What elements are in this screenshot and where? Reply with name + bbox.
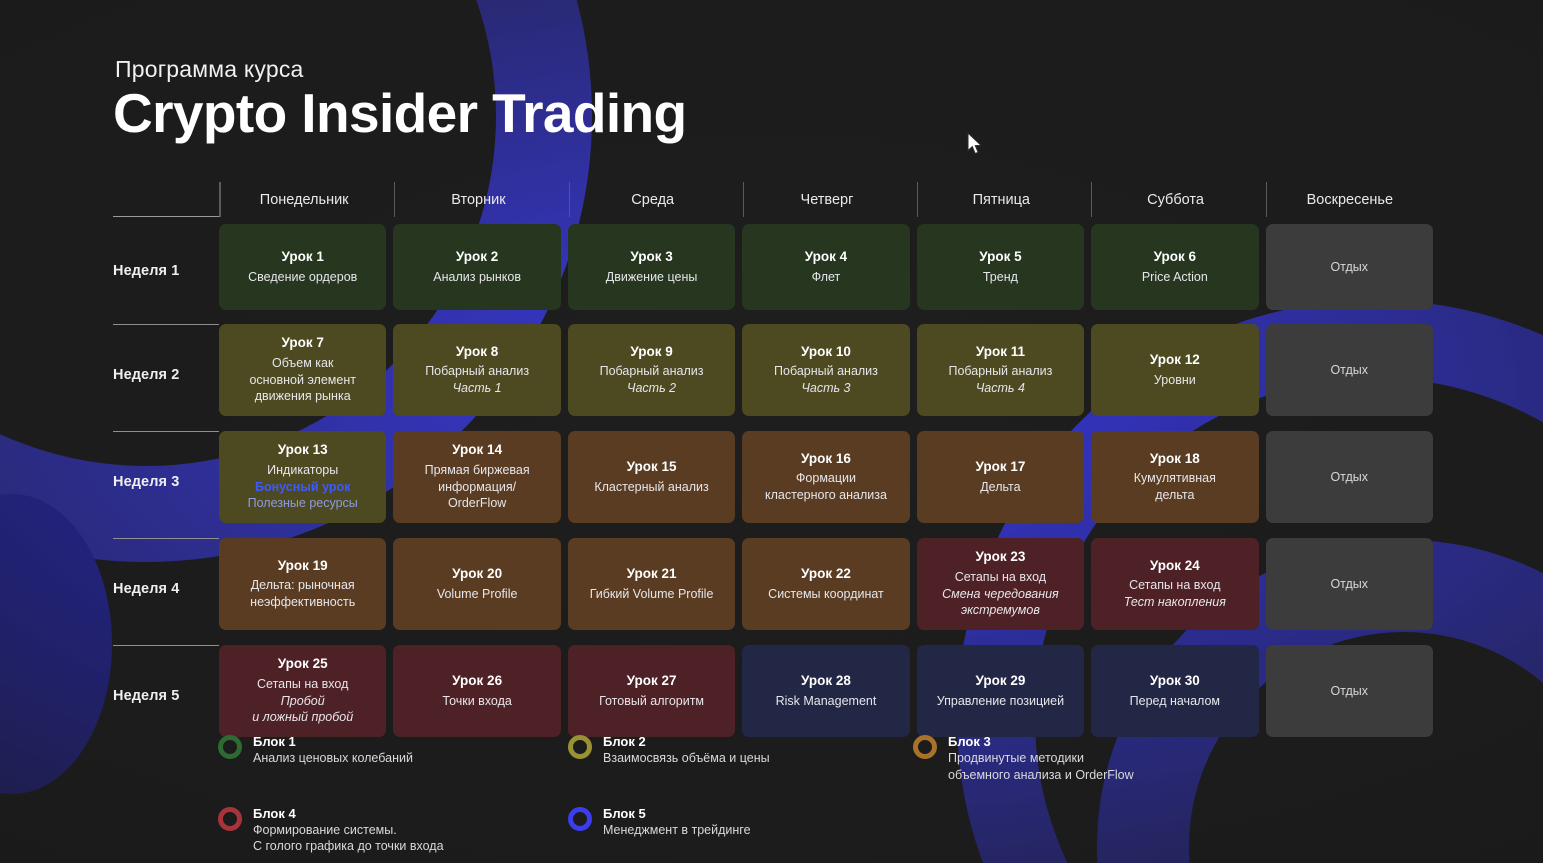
lesson-title: Урок 12 — [1150, 352, 1200, 369]
rest-cell[interactable]: Отдых — [1266, 431, 1433, 523]
week-2-cells: Урок 7Объем какосновной элементдвижения … — [219, 324, 1433, 424]
lesson-title: Урок 7 — [282, 335, 324, 352]
day-header-7: Воскресенье — [1266, 182, 1433, 217]
lesson-description: Гибкий Volume Profile — [590, 586, 714, 603]
lesson-description: Анализ рынков — [433, 269, 521, 286]
lesson-title: Урок 27 — [627, 673, 677, 690]
lesson-description: Сетапы на входПробойи ложный пробой — [252, 676, 353, 726]
legend-text: Блок 5Менеджмент в трейдинге — [603, 805, 751, 839]
lesson-card[interactable]: Урок 4Флет — [742, 224, 909, 310]
lesson-card[interactable]: Урок 21Гибкий Volume Profile — [568, 538, 735, 630]
lesson-card[interactable]: Урок 18Кумулятивнаядельта — [1091, 431, 1258, 523]
legend-item-2: Блок 2Взаимосвязь объёма и цены — [568, 733, 913, 783]
week-label-5: Неделя 5 — [113, 645, 219, 745]
legend-item-3: Блок 3Продвинутые методикиобъемного анал… — [913, 733, 1313, 783]
lesson-description: Тренд — [983, 269, 1018, 286]
lesson-title: Урок 13 — [278, 442, 328, 459]
legend-title: Блок 5 — [603, 806, 751, 822]
header-kicker: Программа курса — [115, 56, 687, 83]
rest-label: Отдых — [1330, 363, 1368, 377]
lesson-title: Урок 23 — [975, 549, 1025, 566]
legend-row-2: Блок 4Формирование системы.С голого граф… — [218, 805, 1328, 855]
lesson-description: Volume Profile — [437, 586, 518, 603]
lesson-card[interactable]: Урок 25Сетапы на входПробойи ложный проб… — [219, 645, 386, 737]
lesson-title: Урок 28 — [801, 673, 851, 690]
lesson-card[interactable]: Урок 28Risk Management — [742, 645, 909, 737]
lesson-card[interactable]: Урок 1Сведение ордеров — [219, 224, 386, 310]
bonus-resources-label: Полезные ресурсы — [248, 495, 358, 512]
lesson-description: Дельта — [980, 479, 1020, 496]
lesson-description: Флет — [812, 269, 841, 286]
day-header-2: Вторник — [394, 182, 561, 217]
lesson-description: Побарный анализЧасть 1 — [425, 363, 529, 396]
page-header: Программа курса Crypto Insider Trading — [113, 56, 687, 141]
lesson-title: Урок 16 — [801, 451, 851, 468]
legend-color-ring-icon — [218, 807, 242, 831]
lesson-description: Кластерный анализ — [594, 479, 708, 496]
lesson-title: Урок 20 — [452, 566, 502, 583]
week-rows: Неделя 1Урок 1Сведение ордеровУрок 2Анал… — [113, 224, 1433, 745]
legend-title: Блок 2 — [603, 734, 770, 750]
lesson-title: Урок 24 — [1150, 558, 1200, 575]
lesson-card[interactable]: Урок 20Volume Profile — [393, 538, 560, 630]
day-header-5: Пятница — [917, 182, 1084, 217]
lesson-title: Урок 19 — [278, 558, 328, 575]
week-label-2: Неделя 2 — [113, 324, 219, 424]
lesson-description: Кумулятивнаядельта — [1134, 470, 1216, 503]
lesson-card[interactable]: Урок 9Побарный анализЧасть 2 — [568, 324, 735, 416]
day-header-cells: ПонедельникВторникСредаЧетвергПятницаСуб… — [220, 182, 1433, 217]
week-1-cells: Урок 1Сведение ордеровУрок 2Анализ рынко… — [219, 224, 1433, 317]
lesson-title: Урок 2 — [456, 249, 498, 266]
rest-label: Отдых — [1330, 684, 1368, 698]
lesson-description: Побарный анализЧасть 2 — [600, 363, 704, 396]
rest-label: Отдых — [1330, 577, 1368, 591]
lesson-title: Урок 8 — [456, 344, 498, 361]
lesson-description: Объем какосновной элементдвижения рынка — [249, 355, 356, 405]
lesson-title: Урок 17 — [975, 459, 1025, 476]
legend-text: Блок 3Продвинутые методикиобъемного анал… — [948, 733, 1134, 783]
rest-cell[interactable]: Отдых — [1266, 224, 1433, 310]
course-schedule-table: ПонедельникВторникСредаЧетвергПятницаСуб… — [113, 182, 1433, 745]
week-row-3: Неделя 3Урок 13ИндикаторыБонусный урокПо… — [113, 431, 1433, 531]
day-header-6: Суббота — [1091, 182, 1258, 217]
lesson-description: Движение цены — [606, 269, 698, 286]
legend-description: Анализ ценовых колебаний — [253, 750, 413, 766]
lesson-description: Уровни — [1154, 372, 1196, 389]
table-corner-cell — [113, 182, 220, 217]
lesson-title: Урок 26 — [452, 673, 502, 690]
lesson-card[interactable]: Урок 8Побарный анализЧасть 1 — [393, 324, 560, 416]
lesson-card[interactable]: Урок 13ИндикаторыБонусный урокПолезные р… — [219, 431, 386, 523]
legend: Блок 1Анализ ценовых колебанийБлок 2Взаи… — [218, 733, 1328, 855]
rest-label: Отдых — [1330, 470, 1368, 484]
lesson-title: Урок 21 — [627, 566, 677, 583]
legend-item-1: Блок 1Анализ ценовых колебаний — [218, 733, 568, 783]
lesson-card[interactable]: Урок 15Кластерный анализ — [568, 431, 735, 523]
legend-color-ring-icon — [568, 807, 592, 831]
lesson-title: Урок 15 — [627, 459, 677, 476]
week-row-2: Неделя 2Урок 7Объем какосновной элементд… — [113, 324, 1433, 424]
day-header-3: Среда — [569, 182, 736, 217]
lesson-card[interactable]: Урок 6Price Action — [1091, 224, 1258, 310]
lesson-title: Урок 5 — [979, 249, 1021, 266]
legend-item-5: Блок 5Менеджмент в трейдинге — [568, 805, 913, 855]
legend-text: Блок 4Формирование системы.С голого граф… — [253, 805, 444, 855]
lesson-title: Урок 30 — [1150, 673, 1200, 690]
lesson-card[interactable]: Урок 22Системы координат — [742, 538, 909, 630]
lesson-card[interactable]: Урок 19Дельта: рыночнаянеэффективность — [219, 538, 386, 630]
lesson-card[interactable]: Урок 23Сетапы на входСмена чередованияэк… — [917, 538, 1084, 630]
lesson-description: Сетапы на входТест накопления — [1124, 577, 1226, 610]
lesson-description: Побарный анализЧасть 4 — [948, 363, 1052, 396]
lesson-title: Урок 10 — [801, 344, 851, 361]
lesson-description: Готовый алгоритм — [599, 693, 704, 710]
lesson-title: Урок 3 — [630, 249, 672, 266]
lesson-card[interactable]: Урок 27Готовый алгоритм — [568, 645, 735, 737]
legend-text: Блок 2Взаимосвязь объёма и цены — [603, 733, 770, 767]
lesson-title: Урок 29 — [975, 673, 1025, 690]
week-3-cells: Урок 13ИндикаторыБонусный урокПолезные р… — [219, 431, 1433, 531]
lesson-description: Сведение ордеров — [248, 269, 357, 286]
lesson-card[interactable]: Урок 3Движение цены — [568, 224, 735, 310]
week-row-5: Неделя 5Урок 25Сетапы на входПробойи лож… — [113, 645, 1433, 745]
lesson-description: Прямая биржеваяинформация/OrderFlow — [425, 462, 530, 512]
lesson-card[interactable]: Урок 17Дельта — [917, 431, 1084, 523]
lesson-description: Перед началом — [1130, 693, 1220, 710]
legend-color-ring-icon — [218, 735, 242, 759]
legend-text: Блок 1Анализ ценовых колебаний — [253, 733, 413, 767]
rest-label: Отдых — [1330, 260, 1368, 274]
lesson-description: ИндикаторыБонусный урокПолезные ресурсы — [248, 462, 358, 512]
day-header-1: Понедельник — [220, 182, 387, 217]
week-row-1: Неделя 1Урок 1Сведение ордеровУрок 2Анал… — [113, 224, 1433, 317]
lesson-card[interactable]: Урок 11Побарный анализЧасть 4 — [917, 324, 1084, 416]
rest-cell[interactable]: Отдых — [1266, 645, 1433, 737]
lesson-card[interactable]: Урок 30Перед началом — [1091, 645, 1258, 737]
legend-item-4: Блок 4Формирование системы.С голого граф… — [218, 805, 568, 855]
lesson-description: Дельта: рыночнаянеэффективность — [250, 577, 355, 610]
legend-title: Блок 1 — [253, 734, 413, 750]
legend-row-1: Блок 1Анализ ценовых колебанийБлок 2Взаи… — [218, 733, 1328, 783]
table-header-row: ПонедельникВторникСредаЧетвергПятницаСуб… — [113, 182, 1433, 217]
legend-color-ring-icon — [913, 735, 937, 759]
legend-description: Продвинутые методикиобъемного анализа и … — [948, 750, 1134, 783]
legend-description: Взаимосвязь объёма и цены — [603, 750, 770, 766]
lesson-description: Управление позицией — [937, 693, 1064, 710]
lesson-title: Урок 14 — [452, 442, 502, 459]
lesson-card[interactable]: Урок 29Управление позицией — [917, 645, 1084, 737]
lesson-title: Урок 22 — [801, 566, 851, 583]
lesson-title: Урок 25 — [278, 656, 328, 673]
legend-description: Менеджмент в трейдинге — [603, 822, 751, 838]
rest-cell[interactable]: Отдых — [1266, 538, 1433, 630]
lesson-card[interactable]: Урок 10Побарный анализЧасть 3 — [742, 324, 909, 416]
lesson-card[interactable]: Урок 24Сетапы на входТест накопления — [1091, 538, 1258, 630]
lesson-card[interactable]: Урок 5Тренд — [917, 224, 1084, 310]
lesson-title: Урок 6 — [1154, 249, 1196, 266]
day-header-4: Четверг — [743, 182, 910, 217]
lesson-description: Формациикластерного анализа — [765, 470, 887, 503]
lesson-card[interactable]: Урок 12Уровни — [1091, 324, 1258, 416]
lesson-card[interactable]: Урок 26Точки входа — [393, 645, 560, 737]
lesson-description: Точки входа — [442, 693, 511, 710]
lesson-title: Урок 1 — [282, 249, 324, 266]
lesson-description: Системы координат — [768, 586, 884, 603]
lesson-description: Сетапы на входСмена чередованияэкстремум… — [942, 569, 1059, 619]
week-5-cells: Урок 25Сетапы на входПробойи ложный проб… — [219, 645, 1433, 745]
legend-title: Блок 3 — [948, 734, 1134, 750]
mouse-cursor — [967, 132, 984, 161]
legend-color-ring-icon — [568, 735, 592, 759]
lesson-card[interactable]: Урок 2Анализ рынков — [393, 224, 560, 310]
lesson-title: Урок 11 — [976, 344, 1025, 361]
lesson-card[interactable]: Урок 14Прямая биржеваяинформация/OrderFl… — [393, 431, 560, 523]
bonus-lesson-label: Бонусный урок — [248, 479, 358, 496]
legend-description: Формирование системы.С голого графика до… — [253, 822, 444, 855]
lesson-card[interactable]: Урок 16Формациикластерного анализа — [742, 431, 909, 523]
week-label-3: Неделя 3 — [113, 431, 219, 531]
lesson-description: Risk Management — [776, 693, 877, 710]
lesson-title: Урок 18 — [1150, 451, 1200, 468]
week-4-cells: Урок 19Дельта: рыночнаянеэффективностьУр… — [219, 538, 1433, 638]
lesson-description: Price Action — [1142, 269, 1208, 286]
legend-title: Блок 4 — [253, 806, 444, 822]
lesson-title: Урок 9 — [630, 344, 672, 361]
week-label-1: Неделя 1 — [113, 224, 219, 317]
rest-cell[interactable]: Отдых — [1266, 324, 1433, 416]
week-label-4: Неделя 4 — [113, 538, 219, 638]
week-row-4: Неделя 4Урок 19Дельта: рыночнаянеэффекти… — [113, 538, 1433, 638]
lesson-card[interactable]: Урок 7Объем какосновной элементдвижения … — [219, 324, 386, 416]
lesson-description: Побарный анализЧасть 3 — [774, 363, 878, 396]
lesson-title: Урок 4 — [805, 249, 847, 266]
page-title: Crypto Insider Trading — [113, 85, 687, 141]
